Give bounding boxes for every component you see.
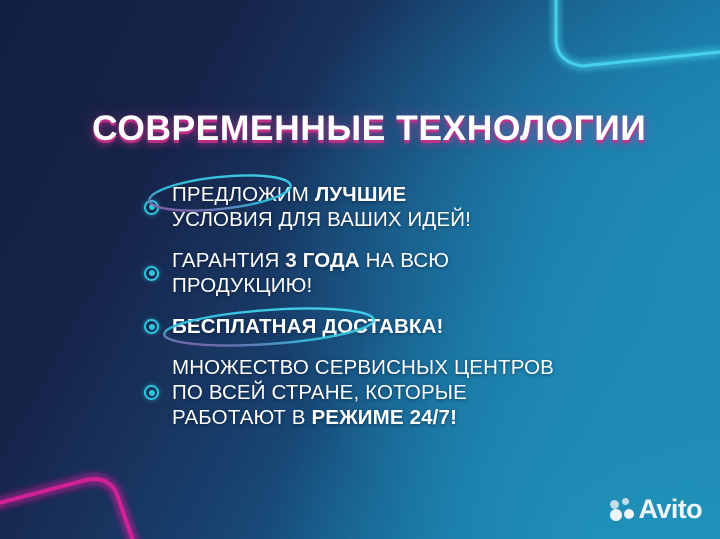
line-prefix: ПРОДУКЦИЮ! [172,274,312,297]
logo-dot [610,500,619,509]
list-item-line: МНОЖЕСТВО СЕРВИСНЫХ ЦЕНТРОВ [172,355,554,380]
line-prefix: УСЛОВИЯ ДЛЯ ВАШИХ ИДЕЙ! [172,208,471,231]
line-prefix: ПРЕДЛОЖИМ [172,183,315,206]
logo-dot [624,509,634,519]
logo-dot [622,498,629,505]
ring-dot-bullet-icon [144,385,159,400]
line-suffix: НА ВСЮ [360,249,449,272]
logo-dot [610,509,622,521]
list-item-line: УСЛОВИЯ ДЛЯ ВАШИХ ИДЕЙ! [172,207,471,232]
line-highlight: БЕСПЛАТНАЯ ДОСТАВКА! [172,315,444,338]
avito-watermark: Avito [610,494,703,525]
cyan-rounded-corner-line [556,0,720,66]
list-item: ГАРАНТИЯ 3 ГОДА НА ВСЮ ПРОДУКЦИЮ! [144,248,664,298]
ring-dot-bullet-icon [144,266,159,281]
list-item-text: ПРЕДЛОЖИМ ЛУЧШИЕ [172,182,471,232]
feature-list: ПРЕДЛОЖИМ ЛУЧШИЕ [144,182,664,446]
ring-dot-bullet-icon [144,200,159,215]
line-prefix: МНОЖЕСТВО СЕРВИСНЫХ ЦЕНТРОВ [172,356,554,379]
list-item-text: МНОЖЕСТВО СЕРВИСНЫХ ЦЕНТРОВ ПО ВСЕЙ СТРА… [172,355,554,430]
list-item-text: ГАРАНТИЯ 3 ГОДА НА ВСЮ ПРОДУКЦИЮ! [172,248,449,298]
list-item-line: ПРЕДЛОЖИМ ЛУЧШИЕ [172,182,471,207]
list-item-line: БЕСПЛАТНАЯ ДОСТАВКА! [172,314,444,339]
line-prefix: ГАРАНТИЯ [172,249,285,272]
promo-banner: СОВРЕМЕННЫЕ ТЕХНОЛОГИИ ПРЕДЛОЖИМ ЛУЧШИЕ [0,0,720,539]
line-highlight: ЛУЧШИЕ [315,183,406,206]
page-title: СОВРЕМЕННЫЕ ТЕХНОЛОГИИ [92,108,646,149]
list-item-line: ПО ВСЕЙ СТРАНЕ, КОТОРЫЕ [172,380,554,405]
line-highlight: РЕЖИМЕ 24/7! [311,406,457,429]
avito-dots-logo-icon [610,498,636,522]
avito-wordmark: Avito [639,494,703,525]
list-item: МНОЖЕСТВО СЕРВИСНЫХ ЦЕНТРОВ ПО ВСЕЙ СТРА… [144,355,664,430]
magenta-rounded-corner-line [0,479,136,539]
line-prefix: ПО ВСЕЙ СТРАНЕ, КОТОРЫЕ [172,381,467,404]
line-highlight: 3 ГОДА [285,249,359,272]
list-item-text: БЕСПЛАТНАЯ ДОСТАВКА! [172,314,444,339]
list-item: ПРЕДЛОЖИМ ЛУЧШИЕ [144,182,664,232]
line-prefix: РАБОТАЮТ В [172,406,311,429]
list-item: БЕСПЛАТНАЯ ДОСТАВКА! [144,314,664,339]
list-item-line: ПРОДУКЦИЮ! [172,273,449,298]
list-item-line: ГАРАНТИЯ 3 ГОДА НА ВСЮ [172,248,449,273]
list-item-line: РАБОТАЮТ В РЕЖИМЕ 24/7! [172,405,554,430]
ring-dot-bullet-icon [144,319,159,334]
